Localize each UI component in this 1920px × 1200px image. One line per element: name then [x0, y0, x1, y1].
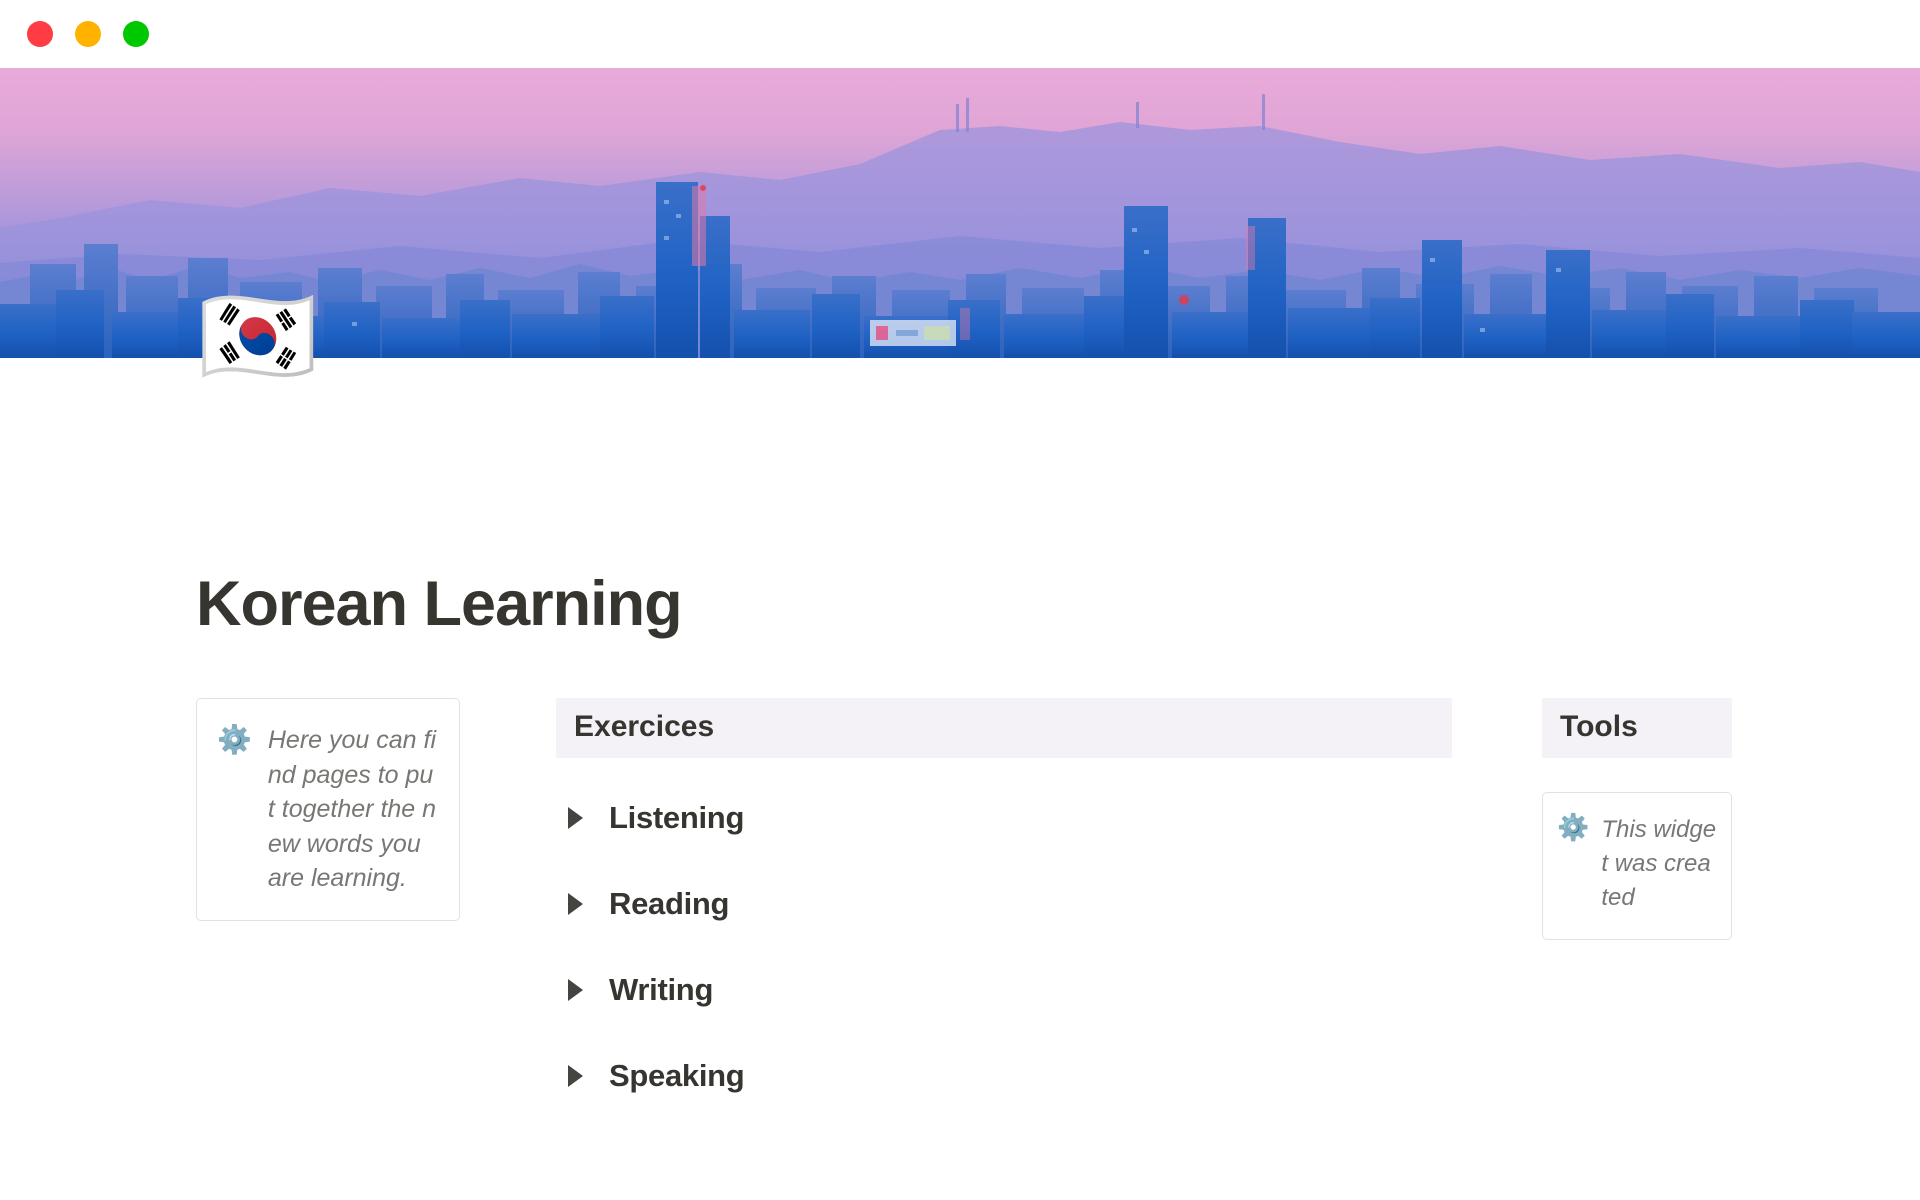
toggle-listening[interactable]: Listening	[556, 792, 1452, 844]
close-window-button[interactable]	[27, 21, 53, 47]
gear-icon: ⚙️	[217, 723, 252, 757]
maximize-window-button[interactable]	[123, 21, 149, 47]
window-titlebar	[0, 0, 1920, 68]
tools-callout[interactable]: ⚙️ This widget was created	[1542, 792, 1732, 940]
toggle-speaking[interactable]: Speaking	[556, 1050, 1452, 1102]
exercices-heading: Exercices	[556, 698, 1452, 758]
tools-heading: Tools	[1542, 698, 1732, 758]
tools-heading-label: Tools	[1560, 710, 1638, 743]
intro-callout[interactable]: ⚙️ Here you can find pages to put togeth…	[196, 698, 460, 921]
gear-icon: ⚙️	[1557, 813, 1589, 844]
right-column: Tools ⚙️ This widget was created	[1542, 698, 1732, 940]
page-title: Korean Learning	[196, 568, 682, 640]
toggle-listening-label: Listening	[609, 800, 744, 836]
intro-callout-text: Here you can find pages to put together …	[268, 723, 437, 896]
chevron-right-icon[interactable]	[568, 979, 583, 1001]
exercices-toggle-list: Listening Reading Writing Speaking	[556, 792, 1452, 1102]
toggle-reading-label: Reading	[609, 886, 729, 922]
middle-column: Exercices Listening Reading Writing	[556, 698, 1452, 1136]
chevron-right-icon[interactable]	[568, 807, 583, 829]
left-column: ⚙️ Here you can find pages to put togeth…	[196, 698, 460, 921]
page-body: 🇰🇷 Korean Learning ⚙️ Here you can find …	[0, 358, 1920, 1200]
minimize-window-button[interactable]	[75, 21, 101, 47]
exercices-heading-label: Exercices	[574, 710, 714, 743]
south-korea-flag-icon[interactable]: 🇰🇷	[198, 288, 318, 384]
toggle-speaking-label: Speaking	[609, 1058, 744, 1094]
toggle-writing[interactable]: Writing	[556, 964, 1452, 1016]
tools-callout-text: This widget was created	[1601, 813, 1717, 915]
toggle-reading[interactable]: Reading	[556, 878, 1452, 930]
chevron-right-icon[interactable]	[568, 1065, 583, 1087]
toggle-writing-label: Writing	[609, 972, 713, 1008]
window-traffic-lights	[27, 21, 149, 47]
chevron-right-icon[interactable]	[568, 893, 583, 915]
